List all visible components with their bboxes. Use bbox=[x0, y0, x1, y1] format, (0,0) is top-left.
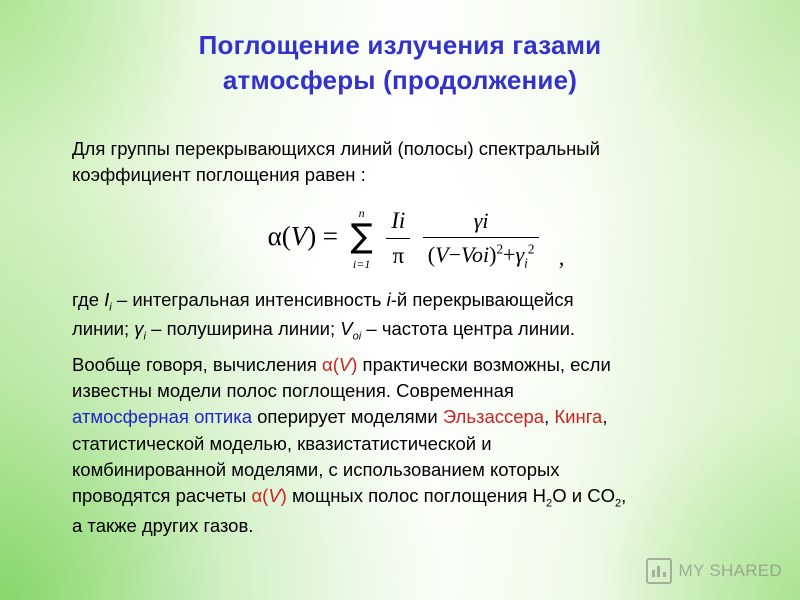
formula-frac1-numerator: Ii bbox=[386, 205, 410, 240]
formula-equals: = bbox=[323, 221, 338, 251]
def-V-subscript: oi bbox=[353, 331, 362, 343]
disc-text-2: практически возможны, если bbox=[357, 354, 610, 375]
page-title-line2: атмосферы (продолжение) bbox=[0, 63, 800, 98]
disc-text-1: Вообще говоря, вычисления bbox=[72, 354, 322, 375]
def-where: где bbox=[72, 289, 104, 310]
def-I-text: – интегральная интенсивность bbox=[112, 289, 387, 310]
formula-lhs-paren-close: ) bbox=[307, 221, 316, 251]
disc-text-10: а также других газов. bbox=[72, 515, 253, 536]
page-title-line1: Поглощение излучения газами bbox=[0, 28, 800, 63]
disc-V-1: V bbox=[339, 354, 351, 375]
chart-bars-icon bbox=[646, 558, 672, 584]
disc-text-5: статистической моделью, квазистатистичес… bbox=[72, 433, 492, 454]
disc-sep-1: , bbox=[544, 406, 554, 427]
formula-summation: n ∑ i=1 bbox=[350, 220, 372, 258]
formula-fraction-intensity: Ii π bbox=[386, 205, 410, 273]
watermark: MY SHARED bbox=[646, 558, 782, 584]
disc-alpha-2: α bbox=[251, 485, 262, 506]
discussion-paragraph: Вообще говоря, вычисления α(V) практичес… bbox=[72, 352, 760, 539]
formula-fraction-lorentz: γi (V−Voi)2+γi2 bbox=[423, 205, 540, 273]
formula-frac2-plus: + bbox=[503, 242, 515, 267]
intro-line-1: Для группы перекрывающихся линий (полосы… bbox=[72, 138, 600, 159]
formula-sum-lower-limit: i=1 bbox=[350, 256, 372, 273]
def-gamma-text: – полуширина линии; bbox=[146, 318, 340, 339]
def-line-word: линии; bbox=[72, 318, 134, 339]
absorption-coefficient-formula: α(V) = n ∑ i=1 Ii π γi (V−Voi)2+γi2 bbox=[268, 205, 565, 273]
formula-block: α(V) = n ∑ i=1 Ii π γi (V−Voi)2+γi2 bbox=[72, 205, 760, 273]
def-V-text: – частота центра линии. bbox=[361, 318, 575, 339]
disc-text-6: комбинированной моделями, с использовани… bbox=[72, 459, 560, 480]
formula-frac2-v: V bbox=[435, 242, 448, 267]
formula-frac2-voi: Voi bbox=[461, 242, 489, 267]
formula-frac2-gamma-sub: i bbox=[524, 255, 528, 270]
disc-atmospheric-optics: атмосферная оптика bbox=[72, 406, 252, 427]
def-i-text: -й перекрывающейся bbox=[391, 289, 574, 310]
disc-text-9: , bbox=[621, 485, 626, 506]
disc-h2o-o: O bbox=[552, 485, 566, 506]
definitions-paragraph: где Ii – интегральная интенсивность i-й … bbox=[72, 287, 760, 346]
def-gamma-symbol: γ bbox=[134, 318, 143, 339]
disc-alpha-1: α bbox=[322, 354, 333, 375]
formula-frac1-denominator: π bbox=[386, 239, 410, 273]
formula-trailing-comma: , bbox=[559, 245, 565, 270]
def-V-symbol: V bbox=[340, 318, 352, 339]
formula-frac2-numerator: γi bbox=[423, 205, 540, 238]
formula-lhs-variable: V bbox=[291, 221, 308, 251]
disc-model-elsasser: Эльзассера bbox=[443, 406, 544, 427]
disc-text-8: мощных полос поглощения bbox=[287, 485, 533, 506]
formula-frac2-gamma: γ bbox=[515, 242, 524, 267]
disc-h2o-h: H bbox=[533, 485, 546, 506]
formula-lhs-alpha: α bbox=[268, 221, 282, 251]
disc-text-3: известны модели полос поглощения. Соврем… bbox=[72, 380, 514, 401]
disc-sep-2: , bbox=[602, 406, 607, 427]
disc-model-king: Кинга bbox=[554, 406, 602, 427]
disc-V-2: V bbox=[268, 485, 280, 506]
formula-frac2-minus: − bbox=[449, 242, 461, 267]
slide-root: Поглощение излучения газами атмосферы (п… bbox=[0, 0, 800, 600]
page-title: Поглощение излучения газами атмосферы (п… bbox=[0, 28, 800, 98]
disc-text-4: оперирует моделями bbox=[252, 406, 443, 427]
intro-line-2: коэффициент поглощения равен : bbox=[72, 164, 366, 185]
formula-lhs-paren-open: ( bbox=[282, 221, 291, 251]
formula-frac2-gamma-power: 2 bbox=[528, 241, 535, 256]
slide-body: Для группы перекрывающихся линий (полосы… bbox=[72, 136, 760, 545]
intro-paragraph: Для группы перекрывающихся линий (полосы… bbox=[72, 136, 760, 189]
formula-sum-upper-limit: n bbox=[350, 205, 372, 222]
disc-and: и bbox=[567, 485, 588, 506]
watermark-label: MY SHARED bbox=[679, 561, 782, 581]
formula-frac2-denominator: (V−Voi)2+γi2 bbox=[423, 238, 540, 273]
disc-co2-co: CO bbox=[587, 485, 615, 506]
disc-text-7: проводятся расчеты bbox=[72, 485, 251, 506]
